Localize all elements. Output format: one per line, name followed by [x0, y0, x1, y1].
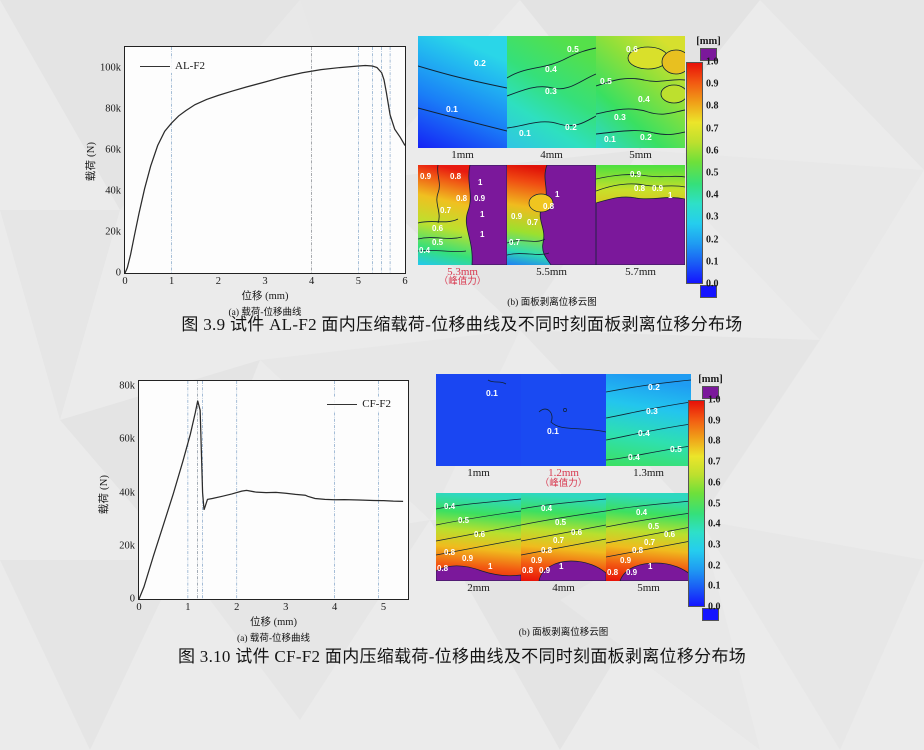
curve-canvas	[139, 381, 408, 599]
x-tick: 4	[332, 602, 337, 613]
y-tick: 80k	[105, 103, 121, 114]
x-tick: 1	[169, 276, 174, 287]
colorbar-tick: 0.1	[708, 581, 721, 592]
chart-legend: CF-F2	[322, 397, 396, 411]
y-tick: 20k	[105, 226, 121, 237]
colorbar-tick: 0.6	[706, 145, 719, 156]
legend-label: CF-F2	[362, 398, 391, 410]
cloud-cell-label: 5mm	[596, 150, 685, 162]
cloud-row-top: 0.1 0.1	[436, 374, 691, 466]
cloud-cell-label: 1mm	[436, 468, 521, 490]
svg-text:1: 1	[480, 210, 485, 219]
svg-text:0.5: 0.5	[567, 44, 579, 54]
chart-legend: AL-F2	[135, 59, 210, 73]
colorbar-tick: 0.1	[706, 256, 719, 267]
document-page: 0 20k 40k 60k 80k 100k 0 1 2 3 4 5 6	[0, 0, 924, 750]
x-tick: 5	[356, 276, 361, 287]
cloud-cell-label: 5mm	[606, 583, 691, 595]
svg-text:0.4: 0.4	[545, 64, 557, 74]
svg-text:0.6: 0.6	[571, 528, 583, 537]
colorbar-tick: 0.7	[708, 457, 721, 468]
cloud-cell: 0.6 0.5 0.4 0.3 0.2 0.1	[596, 36, 685, 148]
colorbar-legend: [mm] 1.0 0.9 0.8 0.7 0.6 0.5 0.4	[688, 374, 733, 621]
svg-text:0.6: 0.6	[474, 530, 486, 539]
svg-text:0.7: 0.7	[527, 218, 539, 227]
svg-text:0.4: 0.4	[638, 94, 650, 104]
svg-text:1: 1	[668, 191, 673, 200]
legend-line-swatch	[327, 404, 357, 405]
plot-area: 0 20k 40k 60k 80k 0 1 2 3 4 5	[138, 380, 409, 600]
colorbar-tick: 0.5	[706, 168, 719, 179]
x-tick: 4	[309, 276, 314, 287]
cloud-cell: 0.5 0.4 0.3 0.2 0.1	[507, 36, 596, 148]
figure-3-10: 0 20k 40k 60k 80k 0 1 2 3 4 5	[0, 368, 924, 633]
svg-text:0.5: 0.5	[670, 444, 682, 454]
svg-text:0.9: 0.9	[630, 170, 642, 179]
svg-text:0.1: 0.1	[446, 104, 458, 114]
svg-text:0.6: 0.6	[432, 224, 444, 233]
vertical-event-markers	[172, 47, 390, 273]
colorbar-unit-label: [mm]	[696, 36, 721, 47]
cloud-cell: 0.4 0.5 0.6 0.7 0.8 0.9 1 0.8 0.9	[521, 493, 606, 581]
svg-text:0.5: 0.5	[648, 522, 660, 531]
svg-text:0.5: 0.5	[600, 76, 612, 86]
cloud-cell-label: 5.5mm	[507, 267, 596, 289]
colorbar-tick: 0.5	[708, 498, 721, 509]
cloud-cell-label: 1.3mm	[606, 468, 691, 490]
colorbar-tick: 1.0	[708, 395, 721, 406]
series-curve	[139, 401, 403, 599]
cloud-grid: 0.1 0.1	[436, 374, 691, 597]
cloud-row-top-labels: 1mm 4mm 5mm	[418, 148, 686, 165]
colorbar-ticks: 1.0 0.9 0.8 0.7 0.6 0.5 0.4 0.3 0.2 0.1	[707, 400, 733, 607]
svg-text:1: 1	[478, 178, 483, 187]
y-axis-title: 载荷 (N)	[83, 142, 98, 181]
x-axis-title: 位移 (mm)	[124, 288, 406, 303]
svg-text:0.9: 0.9	[539, 566, 551, 575]
svg-text:1: 1	[480, 230, 485, 239]
cloud-row-top-labels: 1mm 1.2mm （峰值力） 1.3mm	[436, 466, 691, 493]
svg-text:0.4: 0.4	[638, 428, 650, 438]
peel-displacement-cloud-al-f2: 0.2 0.1	[418, 36, 918, 321]
colorbar-tick: 0.0	[706, 279, 719, 290]
load-displacement-chart-cf-f2: 0 20k 40k 60k 80k 0 1 2 3 4 5	[96, 372, 421, 642]
svg-text:0.9: 0.9	[626, 568, 638, 577]
svg-text:0.4: 0.4	[628, 452, 640, 462]
x-tick: 3	[262, 276, 267, 287]
svg-text:0.9: 0.9	[474, 194, 486, 203]
y-tick: 100k	[100, 62, 121, 73]
svg-text:0.9: 0.9	[620, 556, 632, 565]
cloud-cell: 0.9 0.8 0.9 1	[596, 165, 685, 265]
cloud-row-top: 0.2 0.1	[418, 36, 686, 148]
legend-line-swatch	[140, 66, 170, 67]
x-tick: 6	[402, 276, 407, 287]
svg-text:0.8: 0.8	[437, 564, 449, 573]
cloud-cell-label: 4mm	[521, 583, 606, 595]
figure-3-9: 0 20k 40k 60k 80k 100k 0 1 2 3 4 5 6	[0, 28, 924, 293]
svg-text:0.2: 0.2	[474, 58, 486, 68]
svg-text:0.3: 0.3	[545, 86, 557, 96]
cloud-cell-label: 2mm	[436, 583, 521, 595]
svg-text:0.9: 0.9	[511, 212, 523, 221]
svg-text:0.4: 0.4	[541, 504, 553, 513]
svg-text:0.8: 0.8	[522, 566, 534, 575]
cloud-cell: 1 0.8 0.9 0.7 0.7	[507, 165, 596, 265]
svg-text:0.8: 0.8	[607, 568, 619, 577]
svg-text:0.9: 0.9	[531, 556, 543, 565]
svg-text:0.5: 0.5	[458, 516, 470, 525]
svg-text:0.3: 0.3	[646, 406, 658, 416]
svg-text:1: 1	[488, 562, 493, 571]
svg-text:0.8: 0.8	[543, 202, 555, 211]
svg-text:0.8: 0.8	[634, 184, 646, 193]
peel-displacement-cloud-cf-f2: 0.1 0.1	[436, 374, 918, 644]
svg-text:0.3: 0.3	[614, 112, 626, 122]
y-tick: 0	[116, 268, 121, 279]
svg-text:0.9: 0.9	[462, 554, 474, 563]
svg-text:0.8: 0.8	[450, 172, 462, 181]
svg-text:1: 1	[555, 190, 560, 199]
cloud-cell: 0.1	[521, 374, 606, 466]
cloud-cell-label: 5.3mm	[447, 266, 478, 278]
cloud-cell-label: 1.2mm	[548, 467, 579, 479]
cloud-cell: 0.9 0.8 1 0.8 0.9 0.7 1 0.6 1 0.5 0.4	[418, 165, 507, 265]
svg-text:1: 1	[648, 562, 653, 571]
colorbar-tick: 0.8	[708, 436, 721, 447]
vertical-event-markers	[188, 381, 379, 599]
svg-text:0.6: 0.6	[664, 530, 676, 539]
x-tick: 2	[234, 602, 239, 613]
subcaption-b: (b) 面板剥离位移云图	[418, 294, 686, 308]
svg-text:0.4: 0.4	[636, 508, 648, 517]
x-tick: 5	[381, 602, 386, 613]
cloud-cell-label: 4mm	[507, 150, 596, 162]
y-axis-title: 载荷 (N)	[96, 475, 111, 514]
cloud-cell-label: 5.7mm	[596, 267, 685, 289]
x-tick: 0	[122, 276, 127, 287]
colorbar-tick: 0.7	[706, 123, 719, 134]
legend-label: AL-F2	[175, 60, 205, 72]
svg-text:0.8: 0.8	[444, 548, 456, 557]
svg-text:0.4: 0.4	[444, 502, 456, 511]
colorbar-tick: 0.8	[706, 101, 719, 112]
x-tick: 3	[283, 602, 288, 613]
cloud-grid: 0.2 0.1	[418, 36, 686, 291]
svg-text:0.5: 0.5	[555, 518, 567, 527]
cloud-cell: 0.2 0.3 0.4 0.4 0.5	[606, 374, 691, 466]
svg-text:1: 1	[559, 562, 564, 571]
x-axis-title: 位移 (mm)	[138, 614, 409, 629]
cloud-cell: 0.4 0.5 0.6 0.8 0.9 1 0.8	[436, 493, 521, 581]
y-tick: 0	[130, 594, 135, 605]
cloud-cell-label-peak: 5.3mm （峰值力）	[418, 267, 507, 289]
cloud-cell-label: 1mm	[418, 150, 507, 162]
curve-canvas	[125, 47, 405, 273]
svg-text:0.6: 0.6	[626, 44, 638, 54]
svg-text:0.4: 0.4	[419, 246, 431, 255]
svg-text:0.7: 0.7	[440, 206, 452, 215]
cloud-row-bottom: 0.9 0.8 1 0.8 0.9 0.7 1 0.6 1 0.5 0.4	[418, 165, 686, 265]
figure-caption: 图 3.9 试件 AL-F2 面内压缩载荷-位移曲线及不同时刻面板剥离位移分布场	[0, 310, 924, 335]
y-tick: 40k	[105, 185, 121, 196]
y-tick: 40k	[119, 487, 135, 498]
colorbar-gradient	[686, 62, 703, 284]
svg-text:0.1: 0.1	[547, 426, 559, 436]
x-tick: 2	[216, 276, 221, 287]
colorbar-gradient	[688, 400, 705, 607]
series-curve	[125, 66, 405, 273]
load-displacement-chart-al-f2: 0 20k 40k 60k 80k 100k 0 1 2 3 4 5 6	[86, 36, 416, 321]
cloud-cell: 0.1	[436, 374, 521, 466]
svg-text:0.7: 0.7	[644, 538, 656, 547]
cloud-cell-note: （峰值力）	[418, 278, 507, 288]
svg-text:0.1: 0.1	[604, 134, 616, 144]
colorbar-tick: 0.3	[708, 539, 721, 550]
colorbar-tick: 0.4	[708, 519, 721, 530]
cloud-cell: 0.4 0.5 0.6 0.7 0.8 0.9 1 0.8 0.9	[606, 493, 691, 581]
cloud-cell-note: （峰值力）	[521, 480, 606, 490]
figure-caption: 图 3.10 试件 CF-F2 面内压缩载荷-位移曲线及不同时刻面板剥离位移分布…	[0, 642, 924, 667]
svg-text:0.1: 0.1	[486, 388, 498, 398]
svg-text:0.9: 0.9	[420, 172, 432, 181]
cloud-row-bottom-labels: 2mm 4mm 5mm	[436, 581, 691, 598]
y-tick: 60k	[119, 434, 135, 445]
colorbar-tick: 0.2	[708, 560, 721, 571]
colorbar-tick: 0.0	[708, 602, 721, 613]
cloud-cell: 0.2 0.1	[418, 36, 507, 148]
svg-text:0.7: 0.7	[553, 536, 565, 545]
svg-text:0.9: 0.9	[652, 184, 664, 193]
cloud-row-bottom: 0.4 0.5 0.6 0.8 0.9 1 0.8	[436, 493, 691, 581]
subcaption-b: (b) 面板剥离位移云图	[436, 624, 691, 638]
y-tick: 20k	[119, 540, 135, 551]
colorbar-unit-label: [mm]	[698, 374, 723, 385]
svg-text:0.8: 0.8	[456, 194, 468, 203]
x-tick: 0	[136, 602, 141, 613]
svg-text:0.2: 0.2	[565, 122, 577, 132]
y-tick: 60k	[105, 144, 121, 155]
cloud-row-bottom-labels: 5.3mm （峰值力） 5.5mm 5.7mm	[418, 265, 686, 292]
colorbar-tick: 0.9	[706, 79, 719, 90]
colorbar-tick: 0.9	[708, 415, 721, 426]
svg-text:0.1: 0.1	[519, 128, 531, 138]
colorbar-tick: 0.3	[706, 212, 719, 223]
svg-text:0.2: 0.2	[640, 132, 652, 142]
cloud-cell-label-peak: 1.2mm （峰值力）	[521, 468, 606, 490]
colorbar-tick: 0.2	[706, 234, 719, 245]
colorbar-tick: 0.4	[706, 190, 719, 201]
colorbar-tick: 1.0	[706, 57, 719, 68]
colorbar-ticks: 1.0 0.9 0.8 0.7 0.6 0.5 0.4 0.3 0.2 0.1	[705, 62, 731, 284]
svg-text:0.8: 0.8	[632, 546, 644, 555]
colorbar-tick: 0.6	[708, 477, 721, 488]
x-tick: 1	[185, 602, 190, 613]
svg-text:0.2: 0.2	[648, 382, 660, 392]
svg-text:0.7: 0.7	[509, 238, 521, 247]
svg-text:0.5: 0.5	[432, 238, 444, 247]
svg-text:0.8: 0.8	[541, 546, 553, 555]
y-tick: 80k	[119, 381, 135, 392]
colorbar-legend: [mm] 1.0 0.9 0.8 0.7 0.6 0.5 0.4	[686, 36, 731, 298]
plot-area: 0 20k 40k 60k 80k 100k 0 1 2 3 4 5 6	[124, 46, 406, 274]
